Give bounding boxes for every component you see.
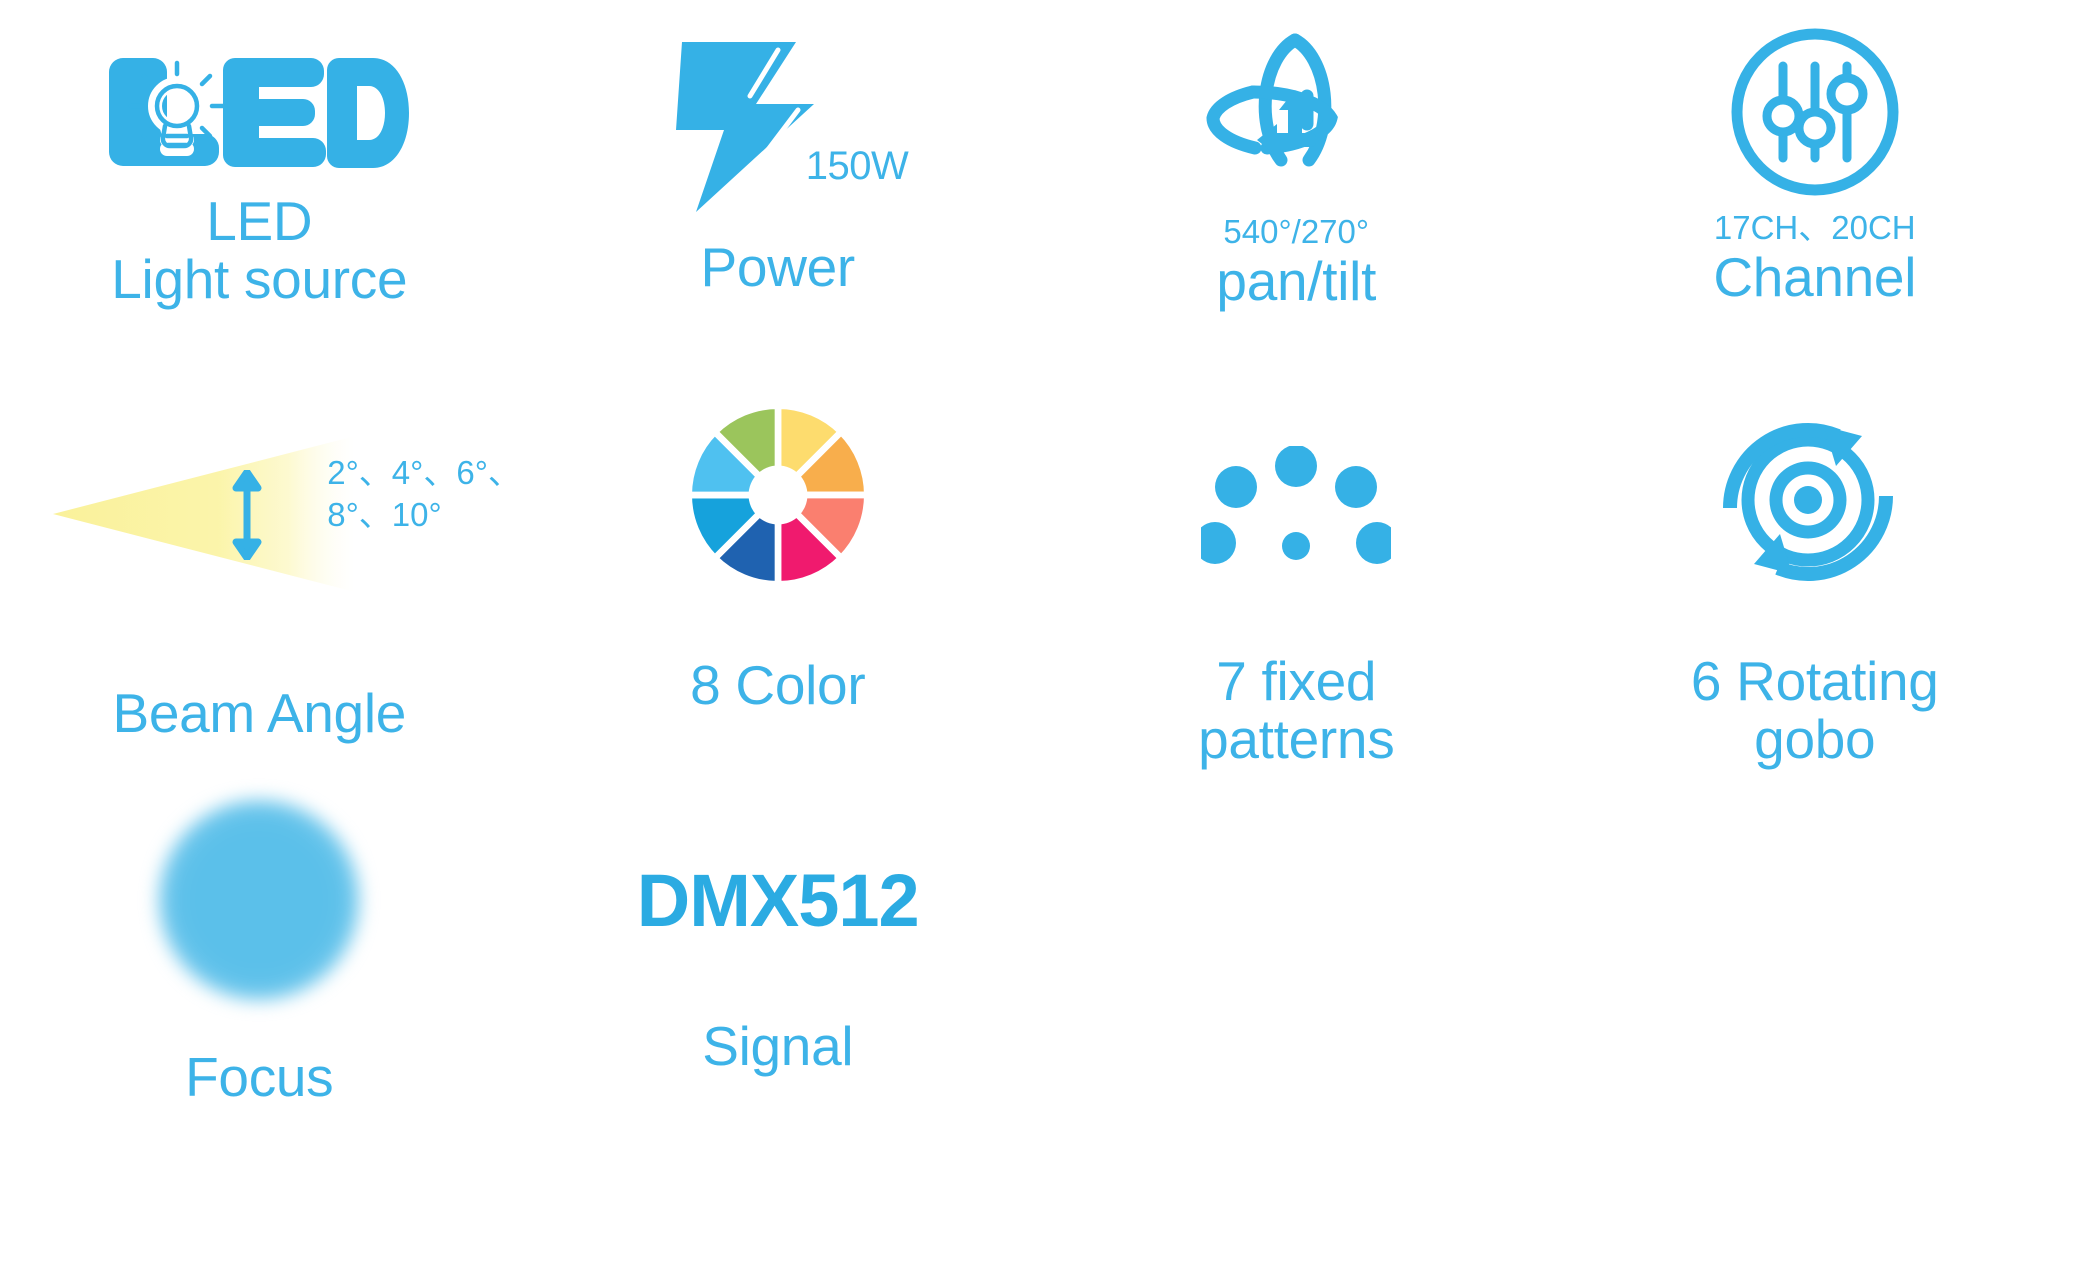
feature-label-line1: Channel (1713, 246, 1916, 308)
empty-cell-1 (1037, 770, 1556, 1280)
beam-angle-values: 2°、4°、6°、 8°、10° (327, 452, 521, 536)
empty-cell-2 (1556, 770, 2074, 1280)
feature-cell-color: 8 Color (519, 390, 1038, 770)
feature-label: 7 fixed patterns (1198, 652, 1394, 769)
channel-value: 17CH、20CH (1714, 210, 1916, 246)
feature-cell-signal: DMX512 Signal (519, 770, 1038, 1280)
feature-cell-beam-angle: 2°、4°、6°、 8°、10° Beam Angle (0, 390, 519, 770)
feature-label-line1: Signal (702, 1015, 853, 1077)
feature-label: Power (701, 238, 855, 296)
feature-label: Focus (185, 1048, 333, 1106)
feature-label-line1: Power (701, 236, 855, 298)
feature-cell-light-source: LED Light source (0, 0, 519, 390)
feature-cell-focus: Focus (0, 770, 519, 1280)
feature-label-line1: 8 Color (690, 654, 865, 716)
feature-label-line1: Beam Angle (112, 682, 406, 744)
led-bulb-icon (109, 48, 409, 178)
feature-label: 8 Color (690, 656, 865, 714)
focus-blur-circle (159, 800, 359, 1000)
feature-label-line1: LED (206, 190, 312, 252)
feature-label-line1: pan/tilt (1216, 250, 1376, 312)
lightning-bolt-icon: 150W (628, 36, 928, 216)
pan-tilt-value: 540°/270° (1223, 214, 1369, 250)
focus-blur-icon (159, 800, 359, 1000)
color-wheel-icon (683, 400, 873, 590)
feature-grid: LED Light source 150W Power (0, 0, 2074, 1280)
gobo-dots-icon (1201, 446, 1391, 566)
feature-label-line2: gobo (1754, 708, 1875, 770)
beam-height-arrow-icon (225, 470, 269, 560)
feature-label-line1: 7 fixed (1216, 650, 1376, 712)
feature-label: Beam Angle (112, 684, 406, 742)
beam-cone-icon (51, 430, 361, 598)
feature-cell-fixed-patterns: 7 fixed patterns (1037, 390, 1556, 770)
feature-label-line2: Light source (111, 248, 407, 310)
feature-label: Signal (702, 1017, 853, 1075)
pan-tilt-rotation-icon (1191, 18, 1401, 208)
dmx-text-icon: DMX512 (637, 858, 919, 943)
feature-label: 6 Rotating gobo (1691, 652, 1939, 769)
beam-angle-line1: 2°、4°、6°、 (327, 454, 521, 491)
feature-label: Channel (1713, 248, 1916, 306)
feature-label-line1: 6 Rotating (1691, 650, 1939, 712)
sliders-circle-icon (1725, 22, 1905, 202)
feature-label: pan/tilt (1216, 252, 1376, 310)
feature-label-line1: Focus (185, 1046, 333, 1108)
feature-infographic: LED Light source 150W Power (0, 0, 2074, 1280)
feature-label: LED Light source (111, 192, 407, 309)
beam-angle-line2: 8°、10° (327, 496, 441, 533)
power-value: 150W (806, 144, 909, 189)
feature-label-line2: patterns (1198, 708, 1394, 770)
feature-cell-power: 150W Power (519, 0, 1038, 390)
feature-cell-pan-tilt: 540°/270° pan/tilt (1037, 0, 1556, 390)
rotating-gobo-icon (1720, 412, 1910, 592)
feature-cell-rotating-gobo: 6 Rotating gobo (1556, 390, 2074, 770)
feature-cell-channel: 17CH、20CH Channel (1556, 0, 2074, 390)
